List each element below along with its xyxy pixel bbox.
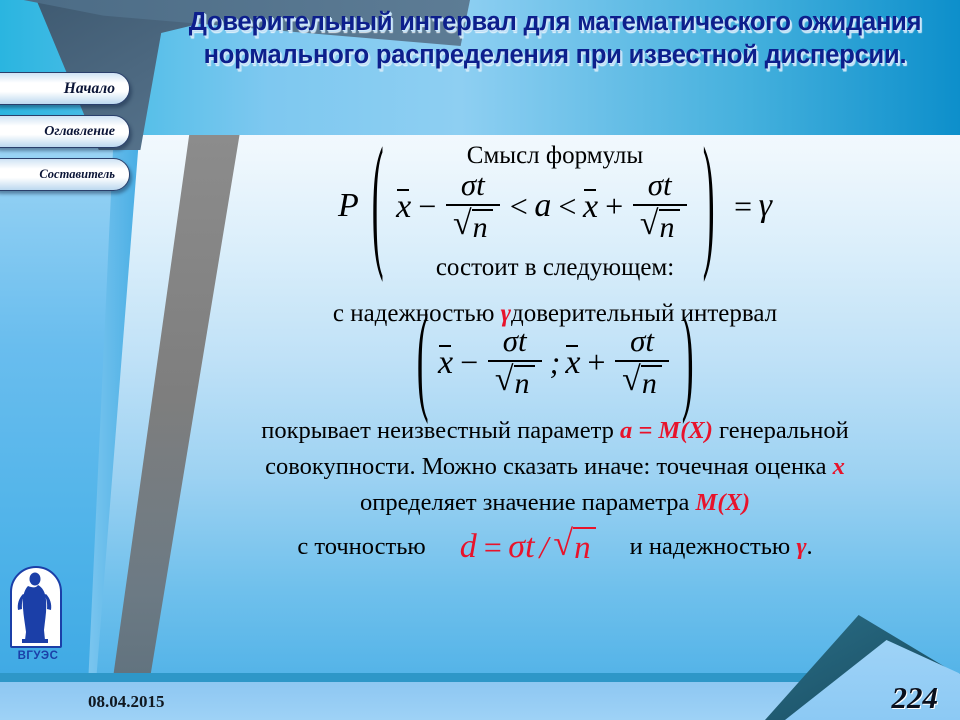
nav-button-home[interactable]: Начало xyxy=(0,72,130,105)
slide-content: Смысл формулы P ( x − σt √ n < a < x + σ… xyxy=(150,135,960,675)
formula1-num-left: σt xyxy=(455,169,491,202)
after-formula-text: состоит в следующем: xyxy=(150,253,960,283)
formula-confidence-interval: ( x − σt √ n ; x + σt √ n xyxy=(150,325,960,399)
logo-frame xyxy=(10,566,62,648)
radical-icon: √ xyxy=(453,209,472,240)
nav-button-contents[interactable]: Оглавление xyxy=(0,115,130,148)
formula1-xbar-right: x xyxy=(583,186,598,226)
explanation-line-2: совокупности. Можно сказать иначе: точеч… xyxy=(150,449,960,485)
radical-icon: √ xyxy=(622,365,641,396)
formula-confidence-probability: P ( x − σt √ n < a < x + σt √ xyxy=(150,169,960,243)
vsues-logo: ВГУЭС xyxy=(10,566,66,662)
formula2-num-right: σt xyxy=(624,325,660,358)
formula1-fraction-right: σt √ n xyxy=(633,169,687,243)
radical-icon: √ xyxy=(495,365,514,396)
formula2-xbar-left: x xyxy=(438,342,453,382)
radical-icon: √ xyxy=(553,527,573,559)
accuracy-label: с точностью xyxy=(297,533,425,561)
formula2-radicand-left: n xyxy=(514,365,535,400)
formula2-den-left: √ n xyxy=(495,364,535,400)
accuracy-line: с точностью d = σt / √ n и надежностью γ… xyxy=(150,527,960,567)
reliability-tail-gamma: γ xyxy=(796,533,806,560)
page-number: 224 xyxy=(892,680,939,716)
formula2-xbar-right: x xyxy=(565,342,580,382)
nav-button-home-label: Начало xyxy=(64,80,115,98)
explanation-2-highlight: x xyxy=(833,453,845,480)
formula2-plus: + xyxy=(580,344,612,381)
formula1-lt-1: < xyxy=(503,188,535,225)
nav-button-author-label: Составитель xyxy=(39,167,115,182)
formula1-fraction-left: σt √ n xyxy=(446,169,500,243)
logo-label: ВГУЭС xyxy=(10,650,66,662)
reliability-tail: и надежностью γ. xyxy=(630,533,813,561)
formula1-plus: + xyxy=(598,188,630,225)
explanation-line-3: определяет значение параметра M(X) xyxy=(150,485,960,521)
formula2-num-left: σt xyxy=(497,325,533,358)
statue-icon xyxy=(12,568,59,645)
explanation-line-1: покрывает неизвестный параметр a = M(X) … xyxy=(150,413,960,449)
explanation-1a: покрывает неизвестный параметр xyxy=(261,417,620,444)
page-title: Доверительный интервал для математическо… xyxy=(160,6,950,72)
slide-date: 08.04.2015 xyxy=(88,692,165,712)
formula3-equals: = xyxy=(477,529,509,566)
formula3-slash: / xyxy=(535,529,554,566)
formula1-open-paren: ( xyxy=(371,122,383,289)
formula2-minus: − xyxy=(453,344,485,381)
nav-button-author[interactable]: Составитель xyxy=(0,158,130,191)
formula1-P: P xyxy=(338,187,359,225)
formula3-d: d xyxy=(460,528,477,566)
formula1-close-paren: ) xyxy=(702,122,714,289)
formula2-fraction-right: σt √ n xyxy=(615,325,669,399)
nav-button-contents-label: Оглавление xyxy=(44,124,115,140)
formula2-semicolon: ; xyxy=(545,344,566,381)
formula1-den-right: √ n xyxy=(640,208,680,244)
formula1-den-left: √ n xyxy=(453,208,493,244)
formula2-fraction-left: σt √ n xyxy=(488,325,542,399)
formula1-lt-2: < xyxy=(551,188,583,225)
formula1-minus: − xyxy=(411,188,443,225)
formula2-open-paren: ( xyxy=(416,294,428,431)
formula3-sqrt: √ n xyxy=(553,527,595,567)
explanation-3a: определяет значение параметра xyxy=(360,489,696,516)
lead-text: Смысл формулы xyxy=(150,141,960,171)
formula1-equals: = xyxy=(727,188,759,225)
formula1-num-right: σt xyxy=(642,169,678,202)
formula1-a: a xyxy=(534,187,551,225)
formula2-close-paren: ) xyxy=(682,294,694,431)
explanation-2a: совокупности. Можно сказать иначе: точеч… xyxy=(265,453,832,480)
explanation-3-highlight: M(X) xyxy=(696,489,750,516)
reliability-tail-label: и надежностью xyxy=(630,533,797,560)
formula3-radicand: n xyxy=(573,527,596,567)
formula1-radicand-right: n xyxy=(659,209,680,244)
radical-icon: √ xyxy=(640,209,659,240)
formula1-gamma: γ xyxy=(759,187,772,225)
reliability-tail-dot: . xyxy=(807,533,813,560)
slide-canvas: Доверительный интервал для математическо… xyxy=(0,0,960,720)
formula1-radicand-left: n xyxy=(472,209,493,244)
formula2-den-right: √ n xyxy=(622,364,662,400)
explanation-1b: генеральной xyxy=(713,417,849,444)
formula1-xbar-left: x xyxy=(396,186,411,226)
formula2-radicand-right: n xyxy=(641,365,662,400)
explanation-1-highlight: a = M(X) xyxy=(620,417,713,444)
formula3-sigma-t: σt xyxy=(508,528,534,566)
formula-accuracy: d = σt / √ n xyxy=(460,527,596,567)
